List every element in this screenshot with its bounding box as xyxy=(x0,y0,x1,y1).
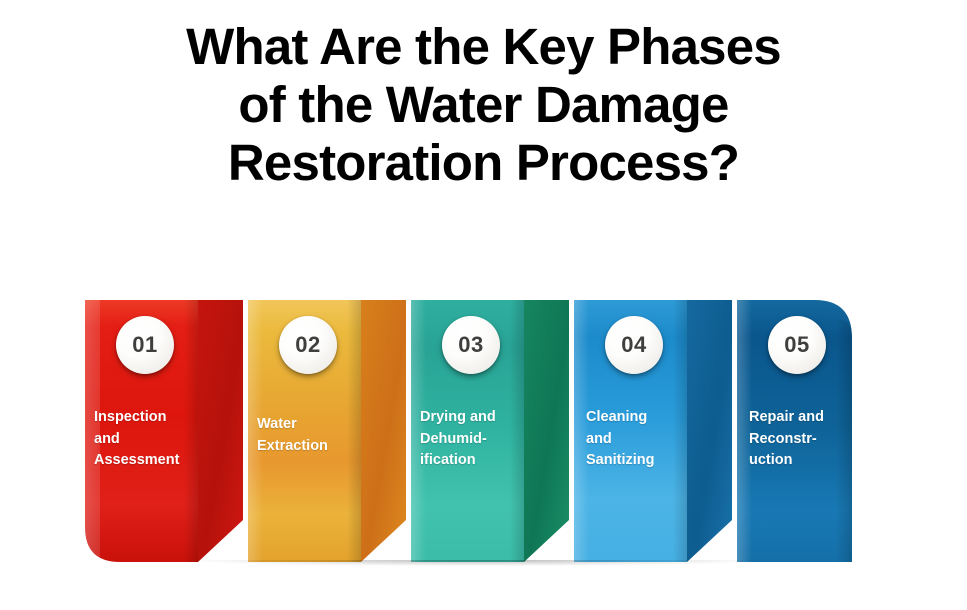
step-5-label: Repair and Reconstr- uction xyxy=(749,407,859,472)
step-5-badge[interactable]: 05 xyxy=(768,316,826,374)
step-3-badge[interactable]: 03 xyxy=(442,316,500,374)
step-2-number: 02 xyxy=(295,332,320,358)
process-steps-diagram: 01 02 03 04 05 Inspection and Assessment… xyxy=(0,0,967,610)
infographic-canvas: What Are the Key Phases of the Water Dam… xyxy=(0,0,967,610)
step-2-badge[interactable]: 02 xyxy=(279,316,337,374)
step-3-number: 03 xyxy=(458,332,483,358)
step-4-label: Cleaning and Sanitizing xyxy=(586,407,690,472)
step-3-fold xyxy=(524,300,569,562)
step-4-fold xyxy=(687,300,732,562)
step-1-badge[interactable]: 01 xyxy=(116,316,174,374)
step-4-badge[interactable]: 04 xyxy=(605,316,663,374)
step-2-fold xyxy=(361,300,406,562)
ribbon-shapes-svg xyxy=(0,0,967,610)
step-2-label: Water Extraction xyxy=(257,414,361,457)
step-5-number: 05 xyxy=(784,332,809,358)
step-1-fold xyxy=(198,300,243,562)
step-1-number: 01 xyxy=(132,332,157,358)
step-1-label: Inspection and Assessment xyxy=(94,407,198,472)
step-4-number: 04 xyxy=(621,332,646,358)
step-3-label: Drying and Dehumid- ification xyxy=(420,407,526,472)
